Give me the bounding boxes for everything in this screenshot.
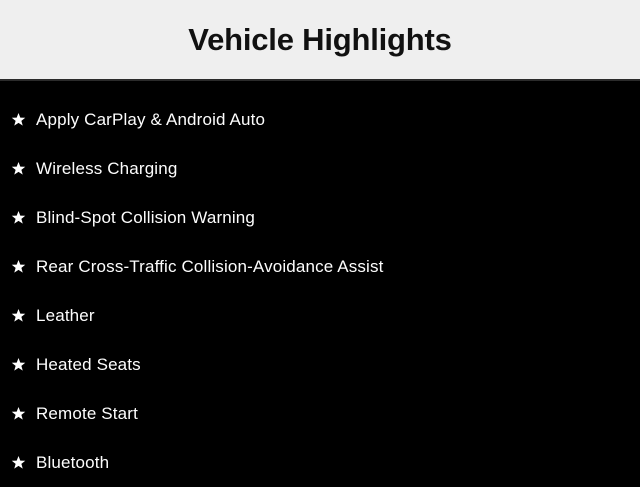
highlights-panel: Apply CarPlay & Android Auto Wireless Ch…	[0, 81, 640, 487]
list-item: Blind-Spot Collision Warning	[0, 193, 640, 242]
list-item: Heated Seats	[0, 340, 640, 389]
page-title: Vehicle Highlights	[188, 24, 451, 55]
vehicle-highlights-page: Vehicle Highlights Apply CarPlay & Andro…	[0, 0, 640, 480]
list-item-label: Heated Seats	[36, 356, 141, 373]
star-icon	[9, 159, 28, 178]
list-item: Leather	[0, 291, 640, 340]
list-item-label: Bluetooth	[36, 454, 109, 471]
highlights-list: Apply CarPlay & Android Auto Wireless Ch…	[0, 95, 640, 487]
list-item-label: Remote Start	[36, 405, 138, 422]
star-icon	[9, 404, 28, 423]
list-item-label: Blind-Spot Collision Warning	[36, 209, 255, 226]
list-item-label: Wireless Charging	[36, 160, 177, 177]
star-icon	[9, 110, 28, 129]
list-item: Apply CarPlay & Android Auto	[0, 95, 640, 144]
star-icon	[9, 306, 28, 325]
list-item-label: Apply CarPlay & Android Auto	[36, 111, 265, 128]
list-item: Remote Start	[0, 389, 640, 438]
star-icon	[9, 355, 28, 374]
list-item: Rear Cross-Traffic Collision-Avoidance A…	[0, 242, 640, 291]
list-item-label: Rear Cross-Traffic Collision-Avoidance A…	[36, 258, 384, 275]
star-icon	[9, 453, 28, 472]
list-item-label: Leather	[36, 307, 95, 324]
star-icon	[9, 257, 28, 276]
star-icon	[9, 208, 28, 227]
list-item: Wireless Charging	[0, 144, 640, 193]
page-header: Vehicle Highlights	[0, 0, 640, 81]
